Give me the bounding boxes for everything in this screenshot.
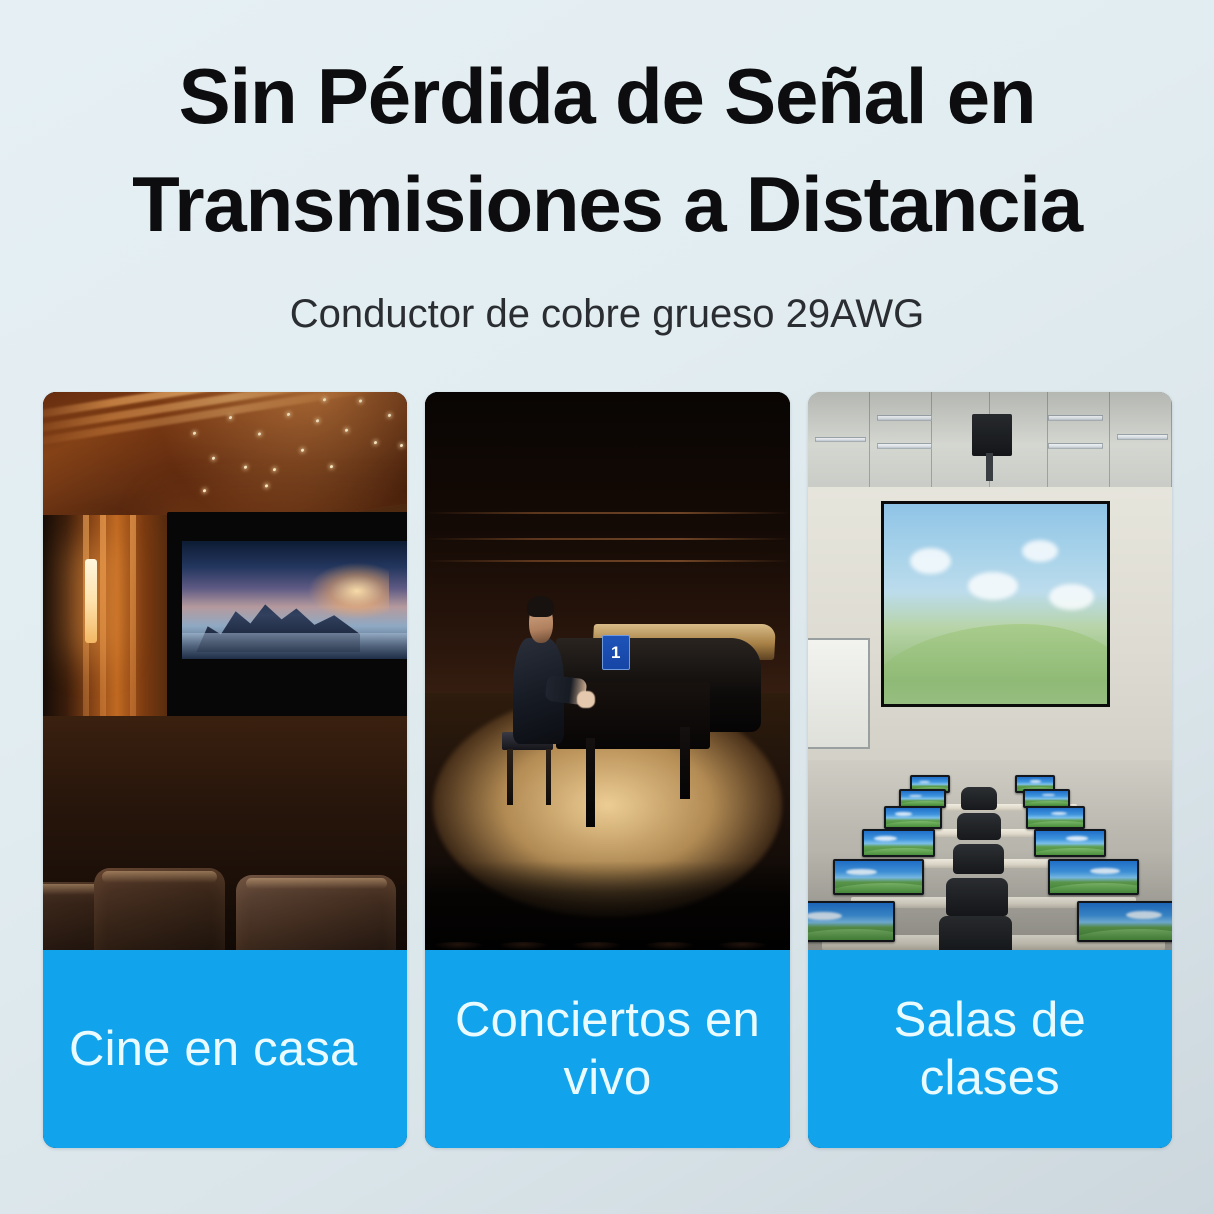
caption-label: Conciertos en vivo [425,991,789,1107]
use-case-card-row: Cine en casa [43,392,1172,1148]
lab-monitor [884,806,942,829]
screen-green-hill [884,624,1108,704]
home-theater-photo [43,392,407,950]
concert-scene: 1 [425,392,789,950]
lab-monitor [862,829,935,857]
screen-water [182,633,407,659]
computer-lab-area [808,760,1172,950]
lab-monitor [899,789,946,808]
screen-sun-glow [309,563,389,620]
ceiling-light-panel [1048,443,1103,449]
piano-number-placard: 1 [602,635,630,670]
projection-screen-image [884,504,1108,704]
projector-mount [986,453,993,481]
use-case-card-live-concert[interactable]: 1 [425,392,789,1148]
lab-monitor [1034,829,1107,857]
ceiling-light-panel [877,443,932,449]
header: Sin Pérdida de Señal en Transmisiones a … [0,0,1214,338]
home-theater-scene [43,392,407,950]
headline-line-2: Transmisiones a Distancia [77,150,1137,258]
lab-monitor [833,859,924,895]
bench-leg [507,749,513,805]
ceiling-light-panel [877,415,932,421]
wall-sconce-light [85,559,97,643]
lab-monitor [1026,806,1084,829]
pianist-hair [527,596,554,617]
piano-leg [586,738,595,827]
lab-chair [953,844,1004,874]
ceiling-light-panel [815,437,866,443]
lab-monitor [1077,901,1172,943]
ceiling-light-panel [1048,415,1103,421]
lab-monitor [1023,789,1070,808]
use-case-card-home-theater[interactable]: Cine en casa [43,392,407,1148]
classroom-scene [808,392,1172,950]
caption-label: Salas de clases [808,991,1172,1107]
lab-chair [946,878,1008,916]
live-concert-photo: 1 [425,392,789,950]
classroom-photo [808,392,1172,950]
page-title: Sin Pérdida de Señal en Transmisiones a … [77,42,1137,258]
caption-label: Cine en casa [43,1020,407,1078]
use-case-card-classroom[interactable]: Salas de clases [808,392,1172,1148]
ceiling-light-panel [1117,434,1168,440]
caption-band-live-concert: Conciertos en vivo [425,950,789,1148]
theater-floor [43,716,407,950]
caption-band-home-theater: Cine en casa [43,950,407,1148]
wall-panel-line [425,512,789,514]
page-subtitle: Conductor de cobre grueso 29AWG [0,290,1214,338]
wall-panel-line [425,560,789,562]
theater-seat [94,868,225,950]
lab-chair [957,813,1001,840]
piano-leg [680,727,689,800]
caption-band-classroom: Salas de clases [808,950,1172,1148]
lab-chair [939,916,1012,950]
audience-silhouette-row [425,861,789,950]
wall-panel-line [425,538,789,540]
projection-screen-frame [881,501,1111,707]
lab-chair [961,787,997,810]
lab-monitor [808,901,895,943]
pianist-hands [577,691,595,709]
ceiling-projector [972,414,1012,456]
lab-monitor [1048,859,1139,895]
promo-page: Sin Pérdida de Señal en Transmisiones a … [0,0,1214,1214]
bench-leg [546,749,552,805]
whiteboard [808,638,870,750]
headline-line-1: Sin Pérdida de Señal en [179,52,1036,140]
projection-screen-image [182,541,407,659]
theater-seat [236,875,396,950]
